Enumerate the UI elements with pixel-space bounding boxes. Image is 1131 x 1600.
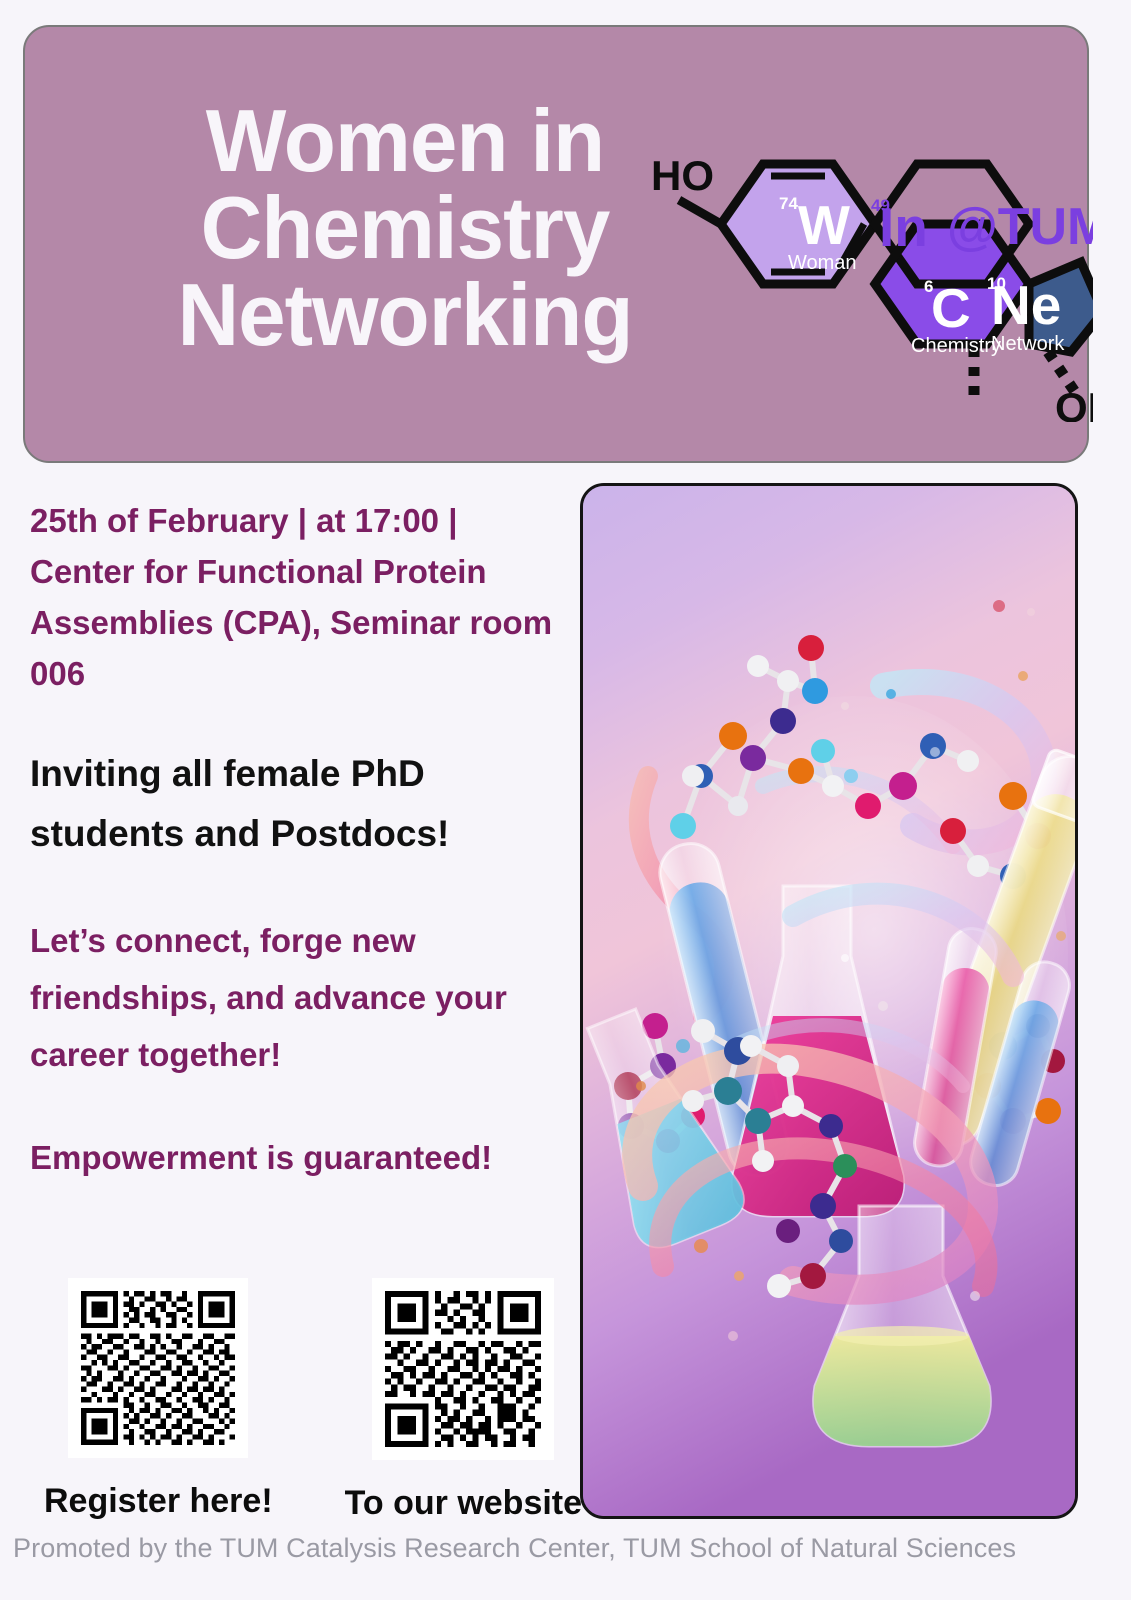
element-name-network: Network [991,333,1065,355]
label-oh: OH [1055,384,1093,422]
website-qr-caption: To our website [345,1484,582,1523]
invitation-text: Inviting all female PhD students and Pos… [30,744,555,864]
bond-ho [679,200,721,224]
element-name-woman: Woman [788,252,857,274]
element-symbol-ne: Ne [991,274,1061,336]
register-qr-caption: Register here! [44,1482,273,1521]
element-symbol-in: In [879,196,928,258]
at-tum-label: @TUM [947,198,1093,256]
event-details: 25th of February | at 17:00 | Center for… [30,495,555,700]
register-qr[interactable] [68,1278,248,1458]
element-number-w: 74 [779,194,798,213]
qr-code-row: Register here! [44,1278,582,1523]
promoted-by-note: Promoted by the TUM Catalysis Research C… [13,1533,1016,1564]
empowerment-message: Empowerment is guaranteed! [30,1132,555,1185]
info-column: 25th of February | at 17:00 | Center for… [30,495,555,1184]
website-qr-block[interactable]: To our website [345,1278,582,1523]
chemistry-glassware-molecules-illustration [580,483,1078,1519]
element-symbol-w: W [798,194,850,256]
label-ho: HO [651,152,714,199]
element-symbol-c: C [931,277,971,339]
connect-message: Let’s connect, forge new friendships, an… [30,913,555,1083]
register-qr-block[interactable]: Register here! [44,1278,273,1521]
win-at-tum-molecule-logo: HO OH 74 W Woman 49 In 6 C Chemistry 10 … [643,112,1093,422]
header-banner: Women in Chemistry Networking [23,25,1089,463]
page-title: Women in Chemistry Networking [163,97,648,358]
element-name-chemistry: Chemistry [911,335,1001,357]
website-qr[interactable] [372,1278,554,1460]
